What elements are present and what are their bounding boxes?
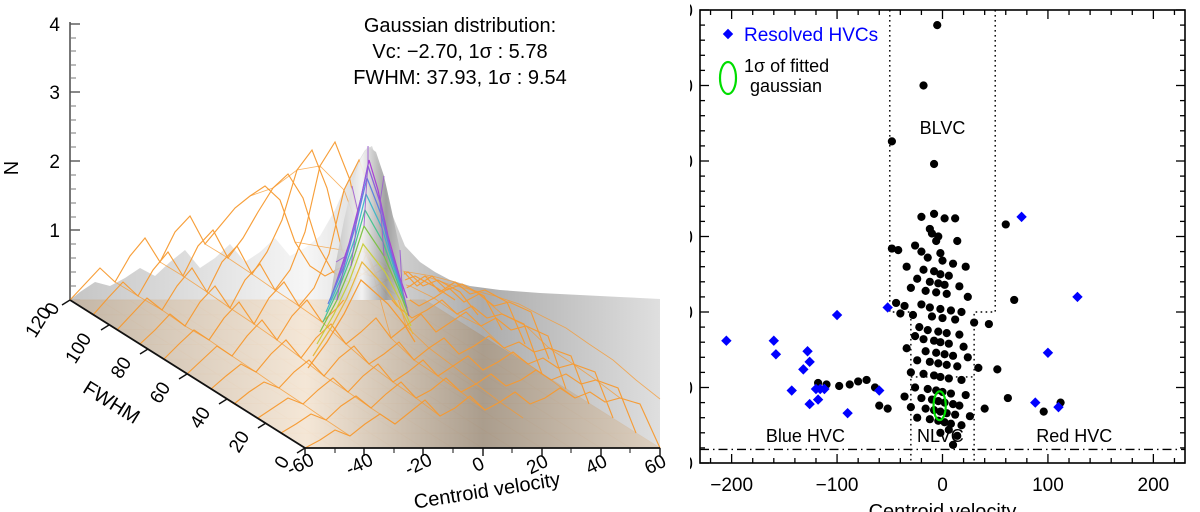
data-point-circle (938, 257, 946, 265)
data-point-circle (962, 391, 970, 399)
data-point-diamond (882, 302, 892, 312)
data-point-circle (932, 349, 940, 357)
x-tick-label: 100 (1032, 475, 1064, 496)
panel-3d-surface: Gaussian distribution: Vc: −2.70, 1σ : 5… (0, 0, 690, 512)
data-point-circle (949, 260, 957, 268)
x3d-tick--40: -40 (343, 450, 377, 481)
data-point-circle (941, 281, 949, 289)
data-point-circle (953, 362, 961, 370)
data-point-circle (903, 263, 911, 271)
region-label-blue-hvc: Blue HVC (766, 426, 845, 446)
surface-svg: Gaussian distribution: Vc: −2.70, 1σ : 5… (0, 0, 690, 512)
annotation-line-3: FWHM: 37.93, 1σ : 9.54 (353, 67, 567, 89)
data-point-circle (926, 358, 934, 366)
x3d-axis-label: Centroid velocity (412, 469, 561, 512)
data-point-diamond (1030, 397, 1040, 407)
data-point-circle (922, 287, 930, 295)
data-point-circle (894, 246, 902, 254)
depth-tick-80: 80 (107, 354, 136, 383)
data-point-diamond (804, 357, 814, 367)
y-tick-label: 250 (690, 77, 693, 98)
data-point-circle (926, 415, 934, 423)
data-point-diamond (813, 394, 823, 404)
x3d-tick-0: 0 (469, 453, 488, 477)
data-point-circle (922, 347, 930, 355)
data-point-diamond (832, 310, 842, 320)
x-tick-label: −200 (710, 475, 753, 496)
data-point-circle (907, 403, 915, 411)
data-point-circle (955, 331, 963, 339)
data-point-circle (951, 214, 959, 222)
data-point-diamond (804, 399, 814, 409)
data-point-circle (917, 213, 925, 221)
legend-label-sigma-line1: 1σ of fitted (744, 56, 829, 76)
data-point-circle (917, 300, 925, 308)
data-point-circle (917, 248, 925, 256)
x-tick-label: 0 (937, 475, 948, 496)
x3d-tick--60: -60 (284, 450, 318, 481)
data-point-circle (932, 288, 940, 296)
data-point-circle (957, 376, 965, 384)
data-point-circle (913, 414, 921, 422)
data-point-circle (911, 332, 919, 340)
x-tick-label: 200 (1138, 475, 1170, 496)
legend-label-sigma-line2: gaussian (750, 76, 822, 96)
data-point-circle (875, 402, 883, 410)
data-point-circle (919, 81, 927, 89)
data-point-circle (947, 389, 955, 397)
data-point-diamond (787, 385, 797, 395)
y-tick-label: 150 (690, 228, 693, 249)
x-axis-label: Centroid velocity (869, 501, 1017, 512)
data-point-diamond (802, 346, 812, 356)
legend-label-resolved-hvcs: Resolved HVCs (744, 25, 878, 46)
data-point-circle (959, 343, 967, 351)
data-point-circle (913, 275, 921, 283)
data-point-diamond (842, 408, 852, 418)
data-point-circle (903, 344, 911, 352)
depth-axis-label: FWHM (79, 377, 143, 429)
data-point-circle (966, 412, 974, 420)
data-point-circle (911, 241, 919, 249)
y-tick-label: 100 (690, 303, 693, 324)
data-point-circle (854, 377, 862, 385)
data-point-circle (985, 320, 993, 328)
gaussian-annotation: Gaussian distribution: Vc: −2.70, 1σ : 5… (353, 15, 567, 89)
z-axis-3d: 0 1 2 3 4 N (1, 15, 80, 319)
data-point-circle (947, 306, 955, 314)
data-point-circle (1002, 220, 1010, 228)
data-point-circle (934, 328, 942, 336)
data-point-circle (913, 356, 921, 364)
data-point-circle (945, 374, 953, 382)
data-point-circle (974, 364, 982, 372)
data-point-circle (892, 299, 900, 307)
annotation-line-2: Vc: −2.70, 1σ : 5.78 (372, 41, 547, 63)
data-point-circle (926, 303, 934, 311)
data-point-circle (945, 272, 953, 280)
data-point-circle (919, 266, 927, 274)
data-point-circle (907, 368, 915, 376)
data-point-circle (953, 237, 961, 245)
data-point-circle (900, 392, 908, 400)
data-point-circle (964, 293, 972, 301)
y-tick-label: 50 (690, 379, 693, 400)
depth-tick-40: 40 (186, 404, 215, 433)
data-point-circle (900, 302, 908, 310)
data-point-diamond (769, 335, 779, 345)
z-tick-4: 4 (49, 15, 60, 36)
x3d-tick-40: 40 (582, 451, 610, 479)
data-point-diamond (1072, 292, 1082, 302)
z-axis-label: N (1, 161, 23, 175)
data-point-circle (924, 326, 932, 334)
data-point-circle (926, 278, 934, 286)
data-point-circle (962, 263, 970, 271)
data-point-diamond (1043, 348, 1053, 358)
depth-tick-100: 100 (62, 330, 97, 368)
data-point-circle (917, 394, 925, 402)
depth-tick-20: 20 (225, 428, 254, 457)
y-tick-label: 300 (690, 1, 693, 22)
z-tick-2: 2 (49, 152, 60, 173)
depth-tick-60: 60 (146, 379, 175, 408)
data-point-circle (955, 402, 963, 410)
data-point-circle (943, 329, 951, 337)
data-point-circle (1040, 408, 1048, 416)
data-point-circle (945, 340, 953, 348)
data-point-circle (896, 309, 904, 317)
data-point-circle (938, 314, 946, 322)
figure-container: Gaussian distribution: Vc: −2.70, 1σ : 5… (0, 0, 1200, 512)
data-point-circle (919, 370, 927, 378)
data-point-circle (943, 290, 951, 298)
scatter-plot-area: −200−1000100200050100150200250300Centroi… (690, 1, 1185, 512)
region-label-blvc: BLVC (920, 118, 966, 138)
panel-scatter: −200−1000100200050100150200250300Centroi… (690, 0, 1200, 512)
data-point-circle (932, 237, 940, 245)
y-tick-label: 200 (690, 152, 693, 173)
data-point-circle (936, 270, 944, 278)
data-point-circle (928, 312, 936, 320)
data-point-circle (909, 311, 917, 319)
data-point-circle (941, 214, 949, 222)
data-point-circle (933, 21, 941, 29)
region-label-red-hvc: Red HVC (1036, 426, 1112, 446)
data-point-circle (951, 315, 959, 323)
data-point-circle (915, 323, 923, 331)
data-point-circle (981, 405, 989, 413)
data-point-circle (911, 383, 919, 391)
data-point-circle (936, 249, 944, 257)
data-point-circle (907, 284, 915, 292)
data-point-diamond (771, 349, 781, 359)
x-axis-3d: -60 -40 -20 0 20 40 60 Centroid velocity (284, 448, 670, 512)
data-point-circle (943, 361, 951, 369)
data-point-circle (846, 380, 854, 388)
y-tick-label: 0 (690, 454, 693, 475)
data-point-circle (884, 405, 892, 413)
data-point-circle (993, 365, 1001, 373)
data-point-circle (964, 353, 972, 361)
region-label-nlvc: NLVC (917, 426, 964, 446)
data-point-circle (936, 305, 944, 313)
data-point-circle (1004, 394, 1012, 402)
data-point-circle (1010, 296, 1018, 304)
data-point-circle (862, 376, 870, 384)
x3d-tick-60: 60 (641, 451, 669, 479)
z-tick-3: 3 (49, 83, 60, 104)
data-point-circle (930, 160, 938, 168)
data-point-circle (922, 405, 930, 413)
data-point-circle (936, 373, 944, 381)
data-point-diamond (721, 335, 731, 345)
x-tick-label: −100 (816, 475, 859, 496)
z-tick-1: 1 (49, 221, 60, 242)
data-point-circle (835, 382, 843, 390)
data-point-circle (970, 318, 978, 326)
annotation-line-1: Gaussian distribution: (364, 15, 556, 37)
data-point-circle (957, 308, 965, 316)
scatter-svg: −200−1000100200050100150200250300Centroi… (690, 0, 1200, 512)
data-point-circle (955, 282, 963, 290)
data-point-diamond (1016, 212, 1026, 222)
data-point-circle (936, 338, 944, 346)
data-point-circle (888, 137, 896, 145)
legend-diamond-icon (723, 29, 733, 39)
data-point-diamond (798, 364, 808, 374)
data-point-circle (934, 359, 942, 367)
data-point-circle (949, 352, 957, 360)
legend-ellipse-icon (720, 62, 736, 94)
data-point-circle (951, 411, 959, 419)
data-point-circle (930, 210, 938, 218)
data-point-circle (924, 254, 932, 262)
data-point-circle (924, 385, 932, 393)
data-point-circle (941, 350, 949, 358)
x3d-tick--20: -20 (402, 450, 436, 481)
data-point-circle (919, 335, 927, 343)
